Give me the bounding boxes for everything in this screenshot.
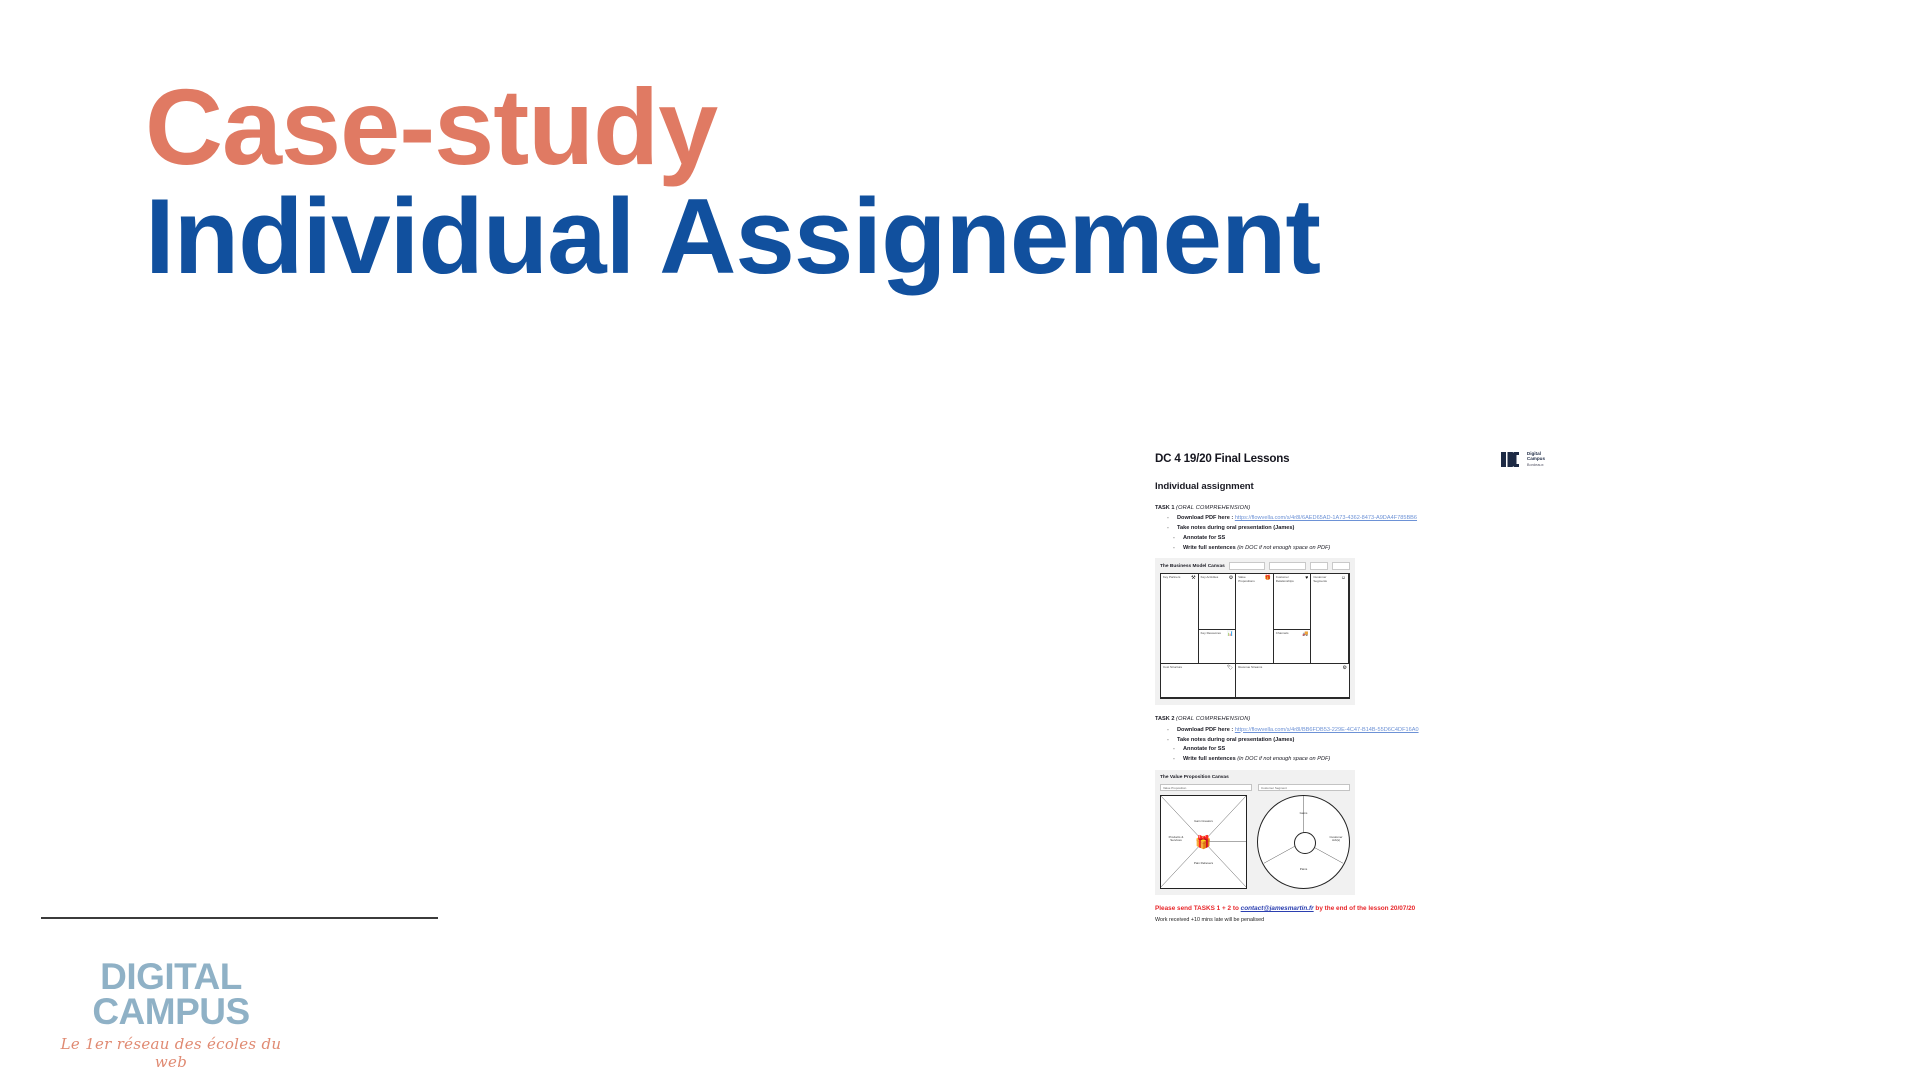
- dc-logo-text: Digital Campus Bordeaux: [1527, 451, 1545, 467]
- digital-campus-logo: DIGITAL CAMPUS Le 1er réseau des écoles …: [56, 960, 286, 1071]
- tag-icon: 🏷: [1227, 666, 1233, 671]
- coins-icon: ⚙: [1343, 666, 1347, 671]
- assignment-document-thumbnail[interactable]: DC 4 19/20 Final Lessons Digital Campus …: [1155, 450, 1545, 950]
- document-submission-note: Please send TASKS 1 + 2 to contact@james…: [1155, 905, 1545, 914]
- vpc-header: The Value Proposition Canvas: [1160, 774, 1350, 781]
- vpc-label-gain-creators: Gain Creators: [1161, 820, 1246, 823]
- task-1-sub-sentences: Write full sentences (in DOC if not enou…: [1173, 544, 1545, 552]
- task-2-paren: (ORAL COMPREHENSION): [1176, 716, 1250, 722]
- heart-icon: ♥: [1305, 576, 1308, 581]
- brand-tagline: Le 1er réseau des écoles du web: [56, 1035, 286, 1071]
- bmc-label-channels: Channels: [1276, 632, 1299, 635]
- gear-icon: ⚙: [1229, 576, 1233, 581]
- bmc-label-key-partners: Key Partners: [1163, 576, 1186, 579]
- task-1-number: TASK 1: [1155, 505, 1174, 511]
- vpc-shapes: Gain Creators Products & Services Pain R…: [1160, 795, 1350, 889]
- task-2-label: TASK 2 (ORAL COMPREHENSION): [1155, 715, 1545, 723]
- task-1-sub-sentences-italic: (in DOC if not enough space on PDF): [1237, 545, 1330, 551]
- truck-icon: 🚚: [1302, 632, 1308, 637]
- footer-divider: [41, 917, 438, 919]
- bmc-label-key-activities: Key Activities: [1201, 576, 1224, 579]
- task-1-label: TASK 1 (ORAL COMPREHENSION): [1155, 504, 1545, 512]
- hammer-icon: ⚒: [1191, 576, 1195, 581]
- gift-icon: 🎁: [1265, 576, 1271, 581]
- smiley-icon: ☺: [1341, 576, 1346, 581]
- brand-word-digital: DIGITAL: [56, 960, 286, 995]
- dc-logo-line2: Campus: [1527, 456, 1545, 461]
- page-title: Case-study Individual Assignement: [145, 72, 1320, 291]
- bmc-title: The Business Model Canvas: [1160, 563, 1225, 570]
- task-2-sub-sentences-bold: Write full sentences: [1183, 756, 1237, 762]
- task-1-download-label: Download PDF here :: [1177, 515, 1235, 521]
- note-email-link[interactable]: contact@jamesmartin.fr: [1241, 905, 1314, 912]
- task-2-sub-bullets: Annotate for SS Write full sentences (in…: [1173, 745, 1545, 763]
- task-2-number: TASK 2: [1155, 716, 1174, 722]
- vpc-field-value-proposition: Value Proposition: [1160, 784, 1252, 791]
- dc-logo-line3: Bordeaux: [1527, 462, 1544, 467]
- bmc-cell-key-activities: Key Activities ⚙: [1199, 574, 1237, 630]
- task-2-sub-sentences: Write full sentences (in DOC if not enou…: [1173, 755, 1545, 763]
- task-1-sub-bullets: Annotate for SS Write full sentences (in…: [1173, 534, 1545, 552]
- bmc-field-designed-for: [1229, 562, 1266, 570]
- task-1-link[interactable]: https://flowvella.com/s/4r8l/6AED65AD-1A…: [1235, 515, 1417, 521]
- bmc-cell-value-propositions: Value Propositions 🎁: [1236, 574, 1274, 664]
- bmc-label-revenue-streams: Revenue Streams: [1238, 666, 1314, 669]
- bmc-cell-customer-segments: Customer Segments ☺: [1311, 574, 1349, 664]
- vpc-customer-profile-circle: Gains Customer Job(s) Pains: [1257, 795, 1350, 889]
- bmc-cell-cost-structure: Cost Structure 🏷: [1161, 664, 1236, 698]
- task-2-download-item: Download PDF here : https://flowvella.co…: [1167, 726, 1545, 734]
- document-title: DC 4 19/20 Final Lessons: [1155, 450, 1289, 467]
- task-2-download-label: Download PDF here :: [1177, 727, 1235, 733]
- task-2-link[interactable]: https://flowvella.com/s/4r8l/BB6FDB53-22…: [1235, 727, 1419, 733]
- brand-word-campus: CAMPUS: [56, 995, 286, 1030]
- bmc-label-customer-segments: Customer Segments: [1313, 576, 1336, 583]
- task-1-notes-item: Take notes during oral presentation (Jam…: [1167, 524, 1545, 532]
- bmc-cell-customer-relationships: Customer Relationships ♥: [1274, 574, 1312, 630]
- gift-box-icon: 🎁: [1195, 835, 1211, 848]
- vpc-title: The Value Proposition Canvas: [1160, 774, 1229, 781]
- bmc-label-cost-structure: Cost Structure: [1163, 666, 1212, 669]
- business-model-canvas-figure: The Business Model Canvas Key Partners ⚒…: [1155, 558, 1355, 705]
- bmc-label-value-propositions: Value Propositions: [1238, 576, 1261, 583]
- task-2-sub-sentences-italic: (in DOC if not enough space on PDF): [1237, 756, 1330, 762]
- bmc-header: The Business Model Canvas: [1160, 562, 1350, 570]
- bmc-cell-channels: Channels 🚚: [1274, 630, 1312, 664]
- dc-monogram-icon: [1501, 452, 1525, 467]
- bmc-field-version: [1332, 562, 1350, 570]
- note-prefix: Please send TASKS 1 + 2 to: [1155, 905, 1241, 912]
- task-1-paren: (ORAL COMPREHENSION): [1176, 505, 1250, 511]
- bmc-label-key-resources: Key Resources: [1201, 632, 1224, 635]
- bmc-grid: Key Partners ⚒ Key Activities ⚙ Value Pr…: [1160, 573, 1350, 699]
- bmc-field-designed-by: [1269, 562, 1306, 570]
- task-1-sub-sentences-bold: Write full sentences: [1183, 545, 1237, 551]
- vpc-meta-fields: Value Proposition Customer Segment: [1160, 784, 1350, 791]
- bmc-cell-key-resources: Key Resources 📊: [1199, 630, 1237, 664]
- vpc-label-pain-relievers: Pain Relievers: [1161, 862, 1246, 865]
- document-subtitle: Individual assignment: [1155, 480, 1545, 494]
- task-1-download-item: Download PDF here : https://flowvella.co…: [1167, 514, 1545, 522]
- chart-icon: 📊: [1227, 632, 1233, 637]
- task-2-bullets: Download PDF here : https://flowvella.co…: [1167, 726, 1545, 744]
- vpc-label-gains: Gains: [1258, 812, 1349, 815]
- task-1-sub-annotate: Annotate for SS: [1173, 534, 1545, 542]
- bmc-field-date: [1310, 562, 1328, 570]
- note-suffix: by the end of the lesson 20/07/20: [1314, 905, 1416, 912]
- bmc-label-customer-relationships: Customer Relationships: [1276, 576, 1299, 583]
- task-1-bullets: Download PDF here : https://flowvella.co…: [1167, 514, 1545, 532]
- vpc-label-customer-jobs: Customer Job(s): [1326, 836, 1346, 843]
- vpc-label-products-services: Products & Services: [1165, 836, 1187, 843]
- bmc-cell-revenue-streams: Revenue Streams ⚙: [1236, 664, 1349, 698]
- vpc-field-customer-segment: Customer Segment: [1258, 784, 1350, 791]
- title-line-individual-assignement: Individual Assignement: [145, 182, 1320, 291]
- document-header: DC 4 19/20 Final Lessons Digital Campus …: [1155, 450, 1545, 467]
- vpc-value-map-square: Gain Creators Products & Services Pain R…: [1160, 795, 1247, 889]
- title-line-case-study: Case-study: [145, 72, 1320, 182]
- document-dc-logo: Digital Campus Bordeaux: [1501, 451, 1545, 467]
- value-proposition-canvas-figure: The Value Proposition Canvas Value Propo…: [1155, 770, 1355, 895]
- document-penalty-note: Work received +10 mins late will be pena…: [1155, 916, 1545, 924]
- dc-logo-line1: Digital: [1527, 451, 1541, 456]
- task-2-sub-annotate: Annotate for SS: [1173, 745, 1545, 753]
- bmc-cell-key-partners: Key Partners ⚒: [1161, 574, 1199, 664]
- vpc-center-circle: [1294, 832, 1316, 854]
- task-2-notes-item: Take notes during oral presentation (Jam…: [1167, 736, 1545, 744]
- vpc-label-pains: Pains: [1258, 868, 1349, 871]
